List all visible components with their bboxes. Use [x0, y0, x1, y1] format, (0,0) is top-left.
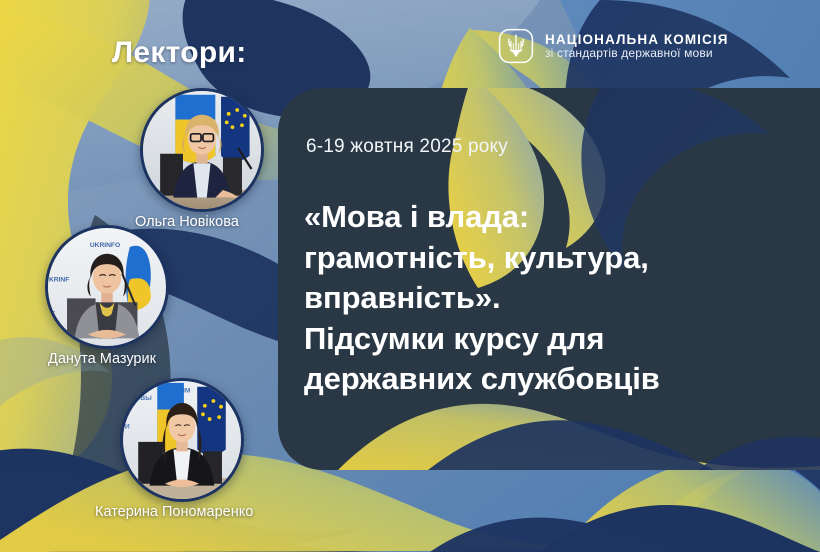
event-title-line-2: грамотність, культура,: [304, 238, 804, 279]
ukrainian-trident-icon: [498, 28, 534, 64]
organization-logo: НАЦІОНАЛЬНА КОМІСІЯ зі стандартів держав…: [498, 28, 729, 64]
avatar: Н ГОВЫ НМ И: [120, 378, 244, 502]
svg-text:KRINF: KRINF: [49, 276, 69, 283]
avatar: RM UKRINFO KRINF RM F: [45, 225, 169, 349]
avatar: [140, 88, 264, 212]
poster-canvas: Лектори: НАЦІОНА: [0, 0, 820, 552]
svg-text:UKRINFO: UKRINFO: [90, 242, 120, 249]
logo-text-block: НАЦІОНАЛЬНА КОМІСІЯ зі стандартів держав…: [545, 32, 729, 61]
speaker-card-3: Н ГОВЫ НМ И: [120, 378, 244, 502]
logo-subtitle-line: зі стандартів державної мови: [545, 47, 729, 60]
portrait-danuta-mazuryk: RM UKRINFO KRINF RM F: [48, 228, 166, 346]
event-title: «Мова і влада: грамотність, культура, вп…: [304, 197, 804, 400]
speaker-name: Катерина Пономаренко: [95, 504, 253, 520]
event-title-line-3: вправність».: [304, 278, 804, 319]
portrait-kateryna-ponomarenko: Н ГОВЫ НМ И: [123, 381, 241, 499]
svg-text:И: И: [125, 424, 130, 431]
logo-title-line: НАЦІОНАЛЬНА КОМІСІЯ: [545, 32, 729, 47]
speaker-card-2: RM UKRINFO KRINF RM F: [45, 225, 169, 349]
event-title-line-5: державних службовців: [304, 359, 804, 400]
event-date: 6-19 жовтня 2025 року: [306, 136, 508, 158]
svg-text:F: F: [51, 311, 55, 318]
svg-text:RM: RM: [51, 244, 62, 251]
portrait-olha-novikova: [143, 91, 261, 209]
speaker-name: Данута Мазурик: [48, 351, 156, 367]
speaker-card-1: Ольга Новікова: [140, 88, 264, 212]
svg-text:Н ГОВЫ: Н ГОВЫ: [125, 395, 152, 402]
event-title-line-1: «Мова і влада:: [304, 197, 804, 238]
lectors-heading: Лектори:: [112, 36, 247, 70]
event-title-line-4: Підсумки курсу для: [304, 319, 804, 360]
